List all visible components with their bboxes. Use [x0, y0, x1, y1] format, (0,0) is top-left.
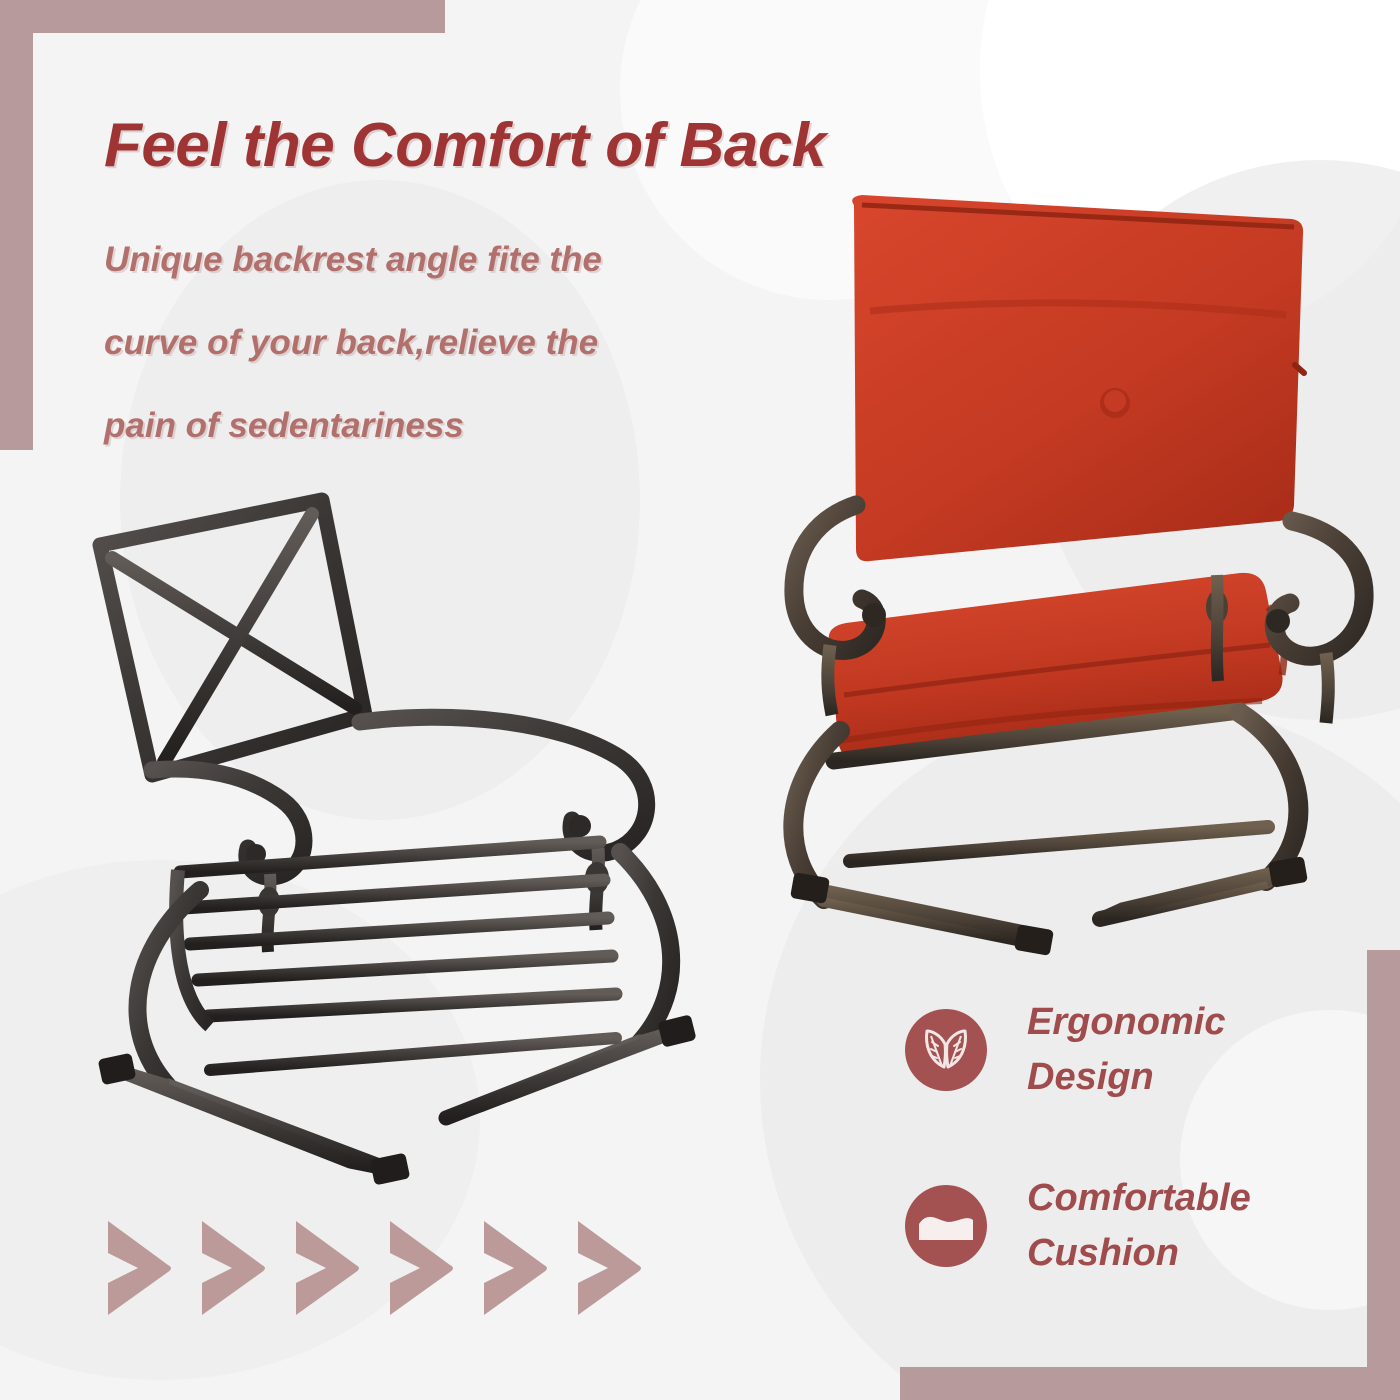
subtitle-block: Unique backrest angle fite the curve of …	[104, 218, 804, 467]
corner-bracket-bottom-right	[900, 1367, 1400, 1400]
chair-sled-runner	[824, 899, 1032, 941]
chair-foot	[1014, 924, 1054, 956]
chair-arm-post-left	[828, 645, 832, 715]
feature-label: Comfortable Cushion	[1027, 1171, 1251, 1281]
feature-item-ergonomic-design: Ergonomic Design	[905, 995, 1251, 1105]
corner-bracket-top-left	[0, 0, 445, 33]
feature-item-comfortable-cushion: Comfortable Cushion	[905, 1171, 1251, 1281]
cushion-tuft-button-top	[1104, 390, 1126, 412]
chevron-arrow-row	[100, 1215, 650, 1321]
feature-label: Ergonomic Design	[1027, 995, 1225, 1105]
chevron-right-icon	[100, 1215, 180, 1321]
chevron-right-icon	[382, 1215, 462, 1321]
chair-back-cushion	[852, 195, 1303, 561]
chevron-right-icon	[288, 1215, 368, 1321]
armrest-scroll-detail	[569, 815, 591, 837]
leaf-icon	[918, 1022, 974, 1078]
chevron-right-icon	[194, 1215, 274, 1321]
chair-foot	[790, 872, 830, 904]
chevron-right-icon	[570, 1215, 650, 1321]
feature-label-line: Cushion	[1027, 1226, 1251, 1281]
chair-seat-slats	[180, 842, 616, 1016]
subtitle-line: Unique backrest angle fite the	[104, 218, 804, 301]
patio-chair-frame-image	[60, 470, 720, 1200]
corner-bracket-top-left	[0, 0, 33, 450]
marketing-banner: Feel the Comfort of Back Unique backrest…	[0, 0, 1400, 1400]
feature-list: Ergonomic Design Comfortable Cushion	[905, 995, 1251, 1347]
chair-spring-leg-right	[1240, 713, 1298, 881]
chair-spring-leg-right	[620, 852, 671, 1042]
chair-sled-runner	[116, 1070, 390, 1170]
chevron-right-icon	[476, 1215, 556, 1321]
feature-label-line: Ergonomic	[1027, 995, 1225, 1050]
corner-bracket-bottom-right	[1367, 950, 1400, 1400]
page-title: Feel the Comfort of Back	[104, 110, 826, 181]
armrest-scroll-detail	[862, 603, 886, 627]
chair-cross-stretcher	[210, 1038, 616, 1070]
chair-cross-stretcher	[850, 827, 1268, 861]
chair-arm-post-right	[1326, 653, 1328, 723]
chair-sled-runner	[806, 887, 1032, 941]
chair-sled-runner	[1100, 869, 1290, 919]
feature-badge	[905, 1185, 987, 1267]
feature-badge	[905, 1009, 987, 1091]
chair-back-cross-brace	[164, 514, 312, 762]
subtitle-line: pain of sedentariness	[104, 384, 804, 467]
armrest-scroll-detail	[1266, 609, 1290, 633]
cushion-icon	[917, 1206, 975, 1246]
chair-center-post	[1217, 575, 1218, 681]
patio-chair-cushioned-image	[770, 175, 1390, 985]
feature-label-line: Design	[1027, 1050, 1225, 1105]
subtitle-line: curve of your back,relieve the	[104, 301, 804, 384]
chair-armrest-right	[360, 717, 647, 853]
feature-label-line: Comfortable	[1027, 1171, 1251, 1226]
chair-armrest-right	[1274, 521, 1364, 656]
